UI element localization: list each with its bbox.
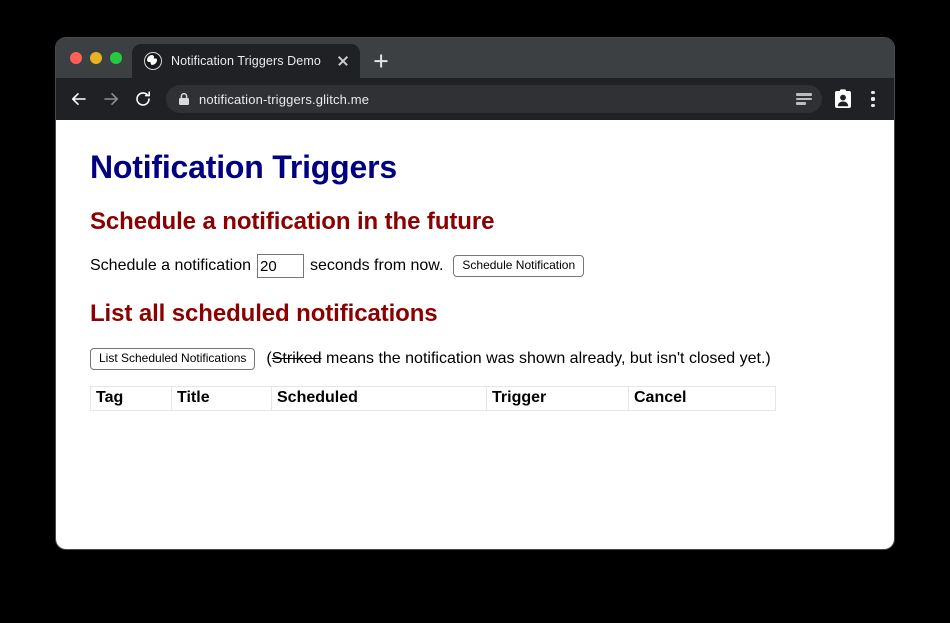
schedule-text-after: seconds from now.	[310, 258, 443, 274]
back-arrow-icon[interactable]	[64, 84, 94, 114]
list-section-heading: List all scheduled notifications	[90, 300, 860, 328]
column-header-trigger: Trigger	[487, 387, 629, 411]
column-header-title: Title	[172, 387, 272, 411]
maximize-window-button[interactable]	[110, 52, 122, 64]
new-tab-button[interactable]	[366, 46, 396, 76]
window-controls	[56, 38, 132, 78]
url-text: notification-triggers.glitch.me	[199, 92, 790, 107]
list-form-row: List Scheduled Notifications (Striked me…	[90, 348, 860, 370]
page-viewport: Notification Triggers Schedule a notific…	[56, 120, 894, 549]
browser-toolbar: notification-triggers.glitch.me	[56, 78, 894, 120]
tab-strip: Notification Triggers Demo	[56, 38, 894, 78]
tab-title: Notification Triggers Demo	[171, 54, 330, 68]
forward-arrow-icon[interactable]	[96, 84, 126, 114]
notifications-table: Tag Title Scheduled Trigger Cancel	[90, 386, 776, 411]
browser-window: Notification Triggers Demo	[56, 38, 894, 549]
column-header-scheduled: Scheduled	[272, 387, 487, 411]
globe-icon	[144, 52, 162, 70]
list-note-struck-word: Striked	[272, 350, 322, 367]
close-icon[interactable]	[334, 52, 352, 70]
schedule-section-heading: Schedule a notification in the future	[90, 208, 860, 236]
list-note-rest: means the notification was shown already…	[322, 350, 771, 367]
reload-icon[interactable]	[128, 84, 158, 114]
three-dot-menu-icon[interactable]	[862, 86, 884, 112]
column-header-tag: Tag	[91, 387, 172, 411]
table-header-row: Tag Title Scheduled Trigger Cancel	[91, 387, 776, 411]
list-note: (Striked means the notification was show…	[266, 350, 770, 368]
minimize-window-button[interactable]	[90, 52, 102, 64]
schedule-form-row: Schedule a notification seconds from now…	[90, 254, 860, 278]
schedule-text-before: Schedule a notification	[90, 258, 251, 274]
column-header-cancel: Cancel	[629, 387, 776, 411]
reading-list-icon[interactable]	[796, 93, 812, 105]
address-bar[interactable]: notification-triggers.glitch.me	[166, 85, 822, 113]
schedule-notification-button[interactable]: Schedule Notification	[453, 255, 584, 277]
close-window-button[interactable]	[70, 52, 82, 64]
profile-badge-icon[interactable]	[830, 86, 856, 112]
browser-tab[interactable]: Notification Triggers Demo	[132, 44, 360, 78]
list-scheduled-notifications-button[interactable]: List Scheduled Notifications	[90, 348, 255, 370]
lock-icon	[178, 92, 190, 106]
page-title: Notification Triggers	[90, 149, 860, 186]
seconds-input[interactable]	[257, 254, 304, 278]
